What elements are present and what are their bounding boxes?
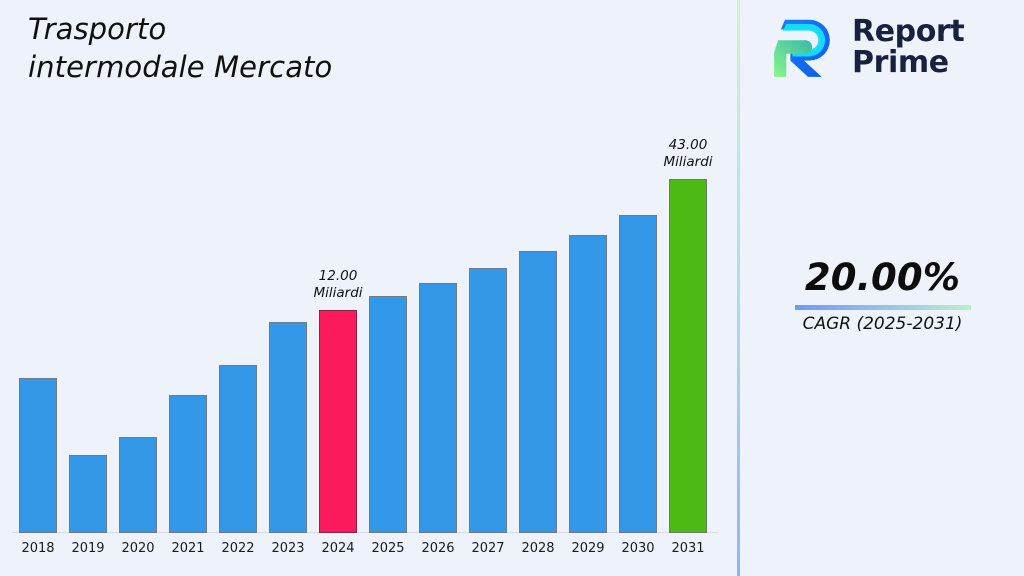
- bar-2025[interactable]: [369, 296, 407, 533]
- x-axis-tick-2028: 2028: [513, 541, 563, 556]
- bar-2021[interactable]: [169, 395, 207, 533]
- x-axis-tick-2029: 2029: [563, 541, 613, 556]
- x-axis-tick-2018: 2018: [13, 541, 63, 556]
- bar-2023[interactable]: [269, 322, 307, 533]
- side-panel: Report Prime 20.00% CAGR (2025-2031): [741, 0, 1024, 576]
- bar-2019[interactable]: [69, 455, 107, 533]
- bar-2030[interactable]: [619, 215, 657, 533]
- bar-value-label-2031: 43.00 Miliardi: [642, 137, 734, 172]
- bar-2029[interactable]: [569, 235, 607, 533]
- bar-2028[interactable]: [519, 251, 557, 533]
- brand-name: Report Prime: [852, 16, 964, 79]
- chart-panel: Trasporto intermodale Mercato 2018201920…: [0, 0, 738, 576]
- x-axis-tick-2031: 2031: [663, 541, 713, 556]
- bar-2024[interactable]: [319, 310, 357, 533]
- chart-baseline: [12, 532, 718, 533]
- x-axis-tick-2026: 2026: [413, 541, 463, 556]
- brand-logo: Report Prime: [770, 13, 964, 81]
- report-prime-logo-icon: [770, 13, 838, 81]
- cagr-value: 20.00%: [741, 256, 1024, 299]
- x-axis-tick-2020: 2020: [113, 541, 163, 556]
- x-axis-tick-2019: 2019: [63, 541, 113, 556]
- x-axis-tick-2030: 2030: [613, 541, 663, 556]
- cagr-caption: CAGR (2025-2031): [741, 314, 1024, 334]
- x-axis-tick-2022: 2022: [213, 541, 263, 556]
- bar-2031[interactable]: [669, 179, 707, 533]
- bar-2027[interactable]: [469, 268, 507, 533]
- bar-chart-plot: 20182019202020212022202312.00 Miliardi20…: [0, 0, 738, 576]
- x-axis-tick-2024: 2024: [313, 541, 363, 556]
- bar-2022[interactable]: [219, 365, 257, 533]
- x-axis-tick-2023: 2023: [263, 541, 313, 556]
- bar-2026[interactable]: [419, 283, 457, 533]
- chart-screenshot: Trasporto intermodale Mercato 2018201920…: [0, 0, 1024, 576]
- bar-2018[interactable]: [19, 378, 57, 533]
- cagr-block: 20.00% CAGR (2025-2031): [741, 256, 1024, 334]
- cagr-divider-rule: [795, 305, 971, 310]
- bar-2020[interactable]: [119, 437, 157, 533]
- x-axis-tick-2025: 2025: [363, 541, 413, 556]
- panel-divider: [737, 0, 740, 576]
- x-axis-tick-2021: 2021: [163, 541, 213, 556]
- x-axis-tick-2027: 2027: [463, 541, 513, 556]
